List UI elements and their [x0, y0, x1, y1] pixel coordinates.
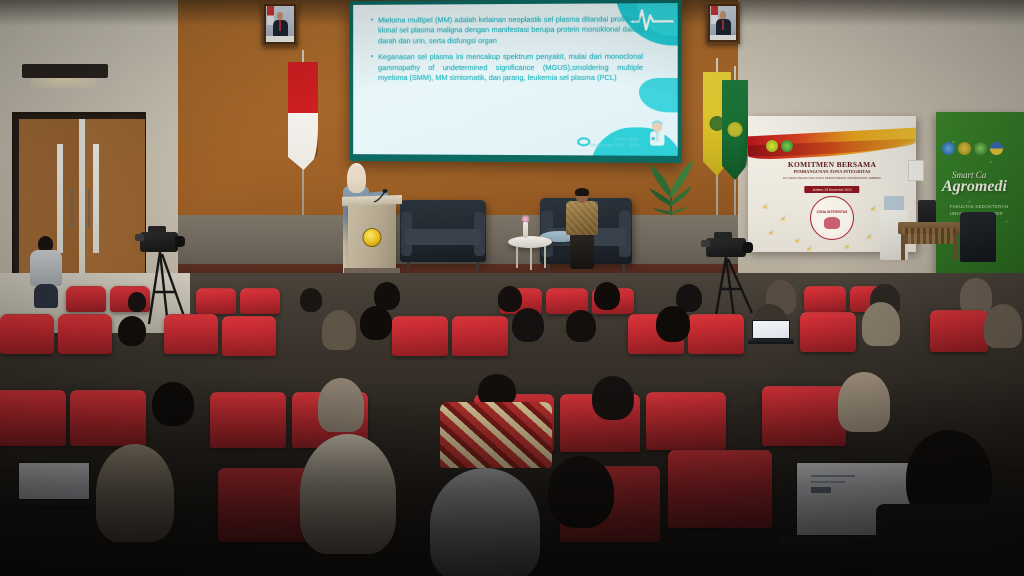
seal-emblem-icon	[824, 217, 840, 229]
audience-hijab	[96, 444, 174, 542]
seat[interactable]	[0, 390, 66, 446]
bullet-marker-icon: ▪	[371, 16, 373, 47]
audience-head	[592, 376, 634, 420]
document-line	[811, 481, 845, 483]
green-institution-flag	[722, 80, 748, 180]
stage-sofa-left	[400, 200, 486, 262]
sofa-cushion	[405, 229, 481, 245]
audience-hijab	[322, 310, 356, 350]
seat[interactable]	[222, 316, 276, 356]
batik-pattern	[566, 201, 598, 235]
seat[interactable]	[930, 310, 988, 352]
audience-hijab	[300, 434, 396, 554]
seated-guest-legs	[570, 233, 594, 269]
attendee-torso	[30, 250, 62, 286]
camera-handle	[148, 226, 166, 233]
slide-citation-line2: Medscape, Ph.D., 2020	[590, 142, 639, 148]
signature-mark: ✍	[870, 206, 876, 212]
portrait-image	[266, 6, 294, 42]
camera-viewfinder	[135, 234, 144, 241]
signature-mark: ✍	[762, 204, 768, 210]
seated-guest-hair	[575, 188, 589, 196]
door-handle[interactable]	[88, 189, 90, 228]
vice-president-portrait	[706, 2, 740, 44]
slide-bullet-text: Mieloma multipel (MM) adalah kelainan ne…	[378, 14, 643, 46]
seat[interactable]	[70, 390, 146, 446]
document-thumbnail	[811, 487, 831, 493]
partner-logo-icon	[958, 142, 971, 155]
slide-decor-blob-mid	[639, 78, 678, 112]
zona-integritas-seal: ZONA INTEGRITAS	[810, 196, 854, 240]
audience-head	[360, 306, 392, 340]
camera-body	[706, 238, 746, 257]
seat[interactable]	[392, 316, 448, 356]
signature-mark: ✍	[806, 246, 812, 252]
slide-bullet-text: Keganasan sel plasma ini mencakup spektr…	[378, 52, 643, 84]
slide-bullet-item: ▪ Mieloma multipel (MM) adalah kelainan …	[371, 14, 643, 46]
projector-screen: ▪ Mieloma multipel (MM) adalah kelainan …	[349, 0, 682, 163]
audience-head	[512, 308, 544, 342]
banner-logo-row	[942, 142, 1003, 155]
audience-head	[548, 456, 614, 528]
seated-guest-body	[566, 201, 598, 235]
slide-citation: Kahn, 2020 Medscape, Ph.D., 2020	[590, 136, 639, 148]
audience-head	[566, 310, 596, 342]
signature-mark: ✍	[768, 230, 774, 236]
side-wooden-table	[898, 222, 960, 262]
banner-subtitle: PEMBANGUNAN ZONA INTEGRITAS	[748, 169, 916, 174]
university-seal-emblem	[363, 228, 382, 247]
camera-body	[140, 232, 178, 252]
audience-head	[152, 382, 194, 426]
auditorium-photo: ▪ Mieloma multipel (MM) adalah kelainan …	[0, 0, 1024, 576]
partner-logo-icon	[990, 142, 1003, 155]
seat[interactable]	[688, 314, 744, 354]
laptop-base[interactable]	[748, 339, 794, 344]
partner-logo-icon	[942, 142, 955, 155]
audience-hijab	[862, 302, 900, 346]
camera-lens-icon	[743, 242, 753, 253]
laptop[interactable]	[10, 462, 98, 514]
seat[interactable]	[0, 314, 54, 354]
portrait-image	[710, 6, 736, 40]
ceiling-light-fixture	[22, 64, 108, 78]
signature-mark: ✍	[794, 238, 800, 244]
doctor-illustration	[643, 119, 672, 149]
banner-scope-line: DI LINGKUNGAN FAKULTAS KEDOKTERAN UNIVER…	[756, 176, 908, 180]
table-runner	[902, 228, 956, 244]
laptop-base[interactable]	[10, 500, 98, 510]
ring-logo-icon	[577, 137, 590, 146]
laptop-screen	[18, 462, 90, 500]
camera-lens-icon	[175, 236, 185, 247]
signature-mark: ✍	[866, 234, 872, 240]
audience-row-foreground	[0, 440, 1024, 576]
signature-mark: ✍	[844, 244, 850, 250]
banner-institution-line1: FAKULTAS KEDOKTERAN	[950, 204, 1008, 210]
flag-emblem-icon	[728, 122, 743, 137]
laptop[interactable]	[748, 320, 794, 346]
seat[interactable]	[164, 314, 218, 354]
signature-mark: ✍	[780, 216, 786, 222]
partner-logo-icon	[974, 142, 987, 155]
camera-viewfinder	[701, 240, 710, 247]
wall-notice-sheet	[908, 160, 924, 181]
indonesia-flag	[288, 62, 318, 170]
banner-title: KOMITMEN BERSAMA	[748, 160, 916, 169]
banner-logo-icon	[781, 140, 793, 152]
banner-date-badge: Jember, 25 November 2024	[804, 186, 859, 193]
document-line	[811, 475, 855, 477]
standing-attendee	[28, 236, 64, 306]
laptop-screen	[752, 320, 790, 339]
banner-logo-icon	[766, 140, 778, 152]
seal-text: ZONA INTEGRITAS	[811, 210, 853, 214]
foreground-laptop-user	[700, 426, 1024, 576]
podium	[348, 202, 396, 274]
door-glass-panel	[93, 144, 99, 253]
camera-handle	[714, 232, 732, 239]
side-chair	[960, 212, 996, 262]
president-portrait	[262, 2, 298, 46]
slide-surface: ▪ Mieloma multipel (MM) adalah kelainan …	[353, 3, 678, 156]
seat[interactable]	[58, 314, 112, 354]
audience-torso	[876, 504, 1024, 576]
seat[interactable]	[800, 312, 856, 352]
seat[interactable]	[452, 316, 508, 356]
microphone-icon	[372, 188, 388, 204]
slide-bullet-item: ▪ Keganasan sel plasma ini mencakup spek…	[371, 52, 643, 84]
banner-word-agromedicine: Agromedi	[942, 178, 1007, 196]
bullet-marker-icon: ▪	[371, 53, 373, 84]
light-glow	[30, 78, 96, 88]
audience-hijab	[318, 378, 364, 432]
audience-hijab	[838, 372, 890, 432]
audience-hijab	[430, 468, 540, 576]
speaker-head	[350, 166, 363, 181]
audience-head	[656, 306, 690, 342]
slide-bullet-list: ▪ Mieloma multipel (MM) adalah kelainan …	[371, 14, 643, 89]
audience-head	[118, 316, 146, 346]
door-handle[interactable]	[71, 189, 73, 228]
audience-hijab	[984, 304, 1022, 348]
flower-vase	[523, 222, 528, 238]
